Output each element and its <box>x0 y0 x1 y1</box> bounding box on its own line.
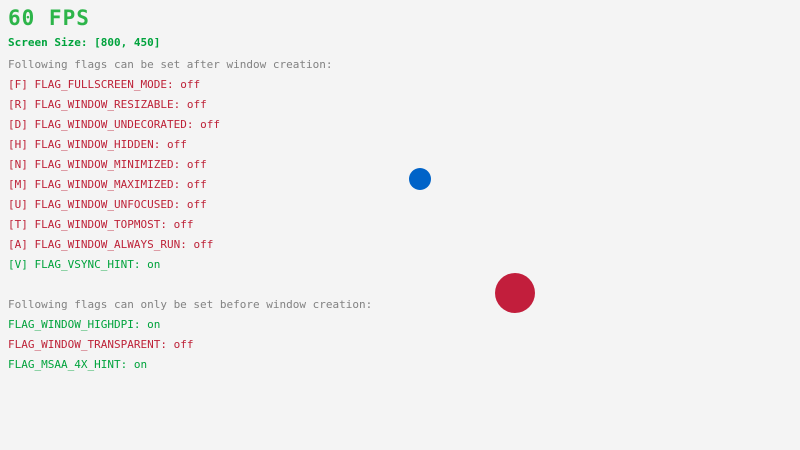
flag-shortcut-key: [N] <box>8 158 35 171</box>
bouncing-circle-blue <box>409 168 431 190</box>
flag-label: FLAG_WINDOW_MINIMIZED: <box>35 158 187 171</box>
runtime-flag-row[interactable]: [U] FLAG_WINDOW_UNFOCUSED: off <box>8 198 508 218</box>
flag-shortcut-key: [A] <box>8 238 35 251</box>
flag-state-value: off <box>174 338 194 351</box>
flag-shortcut-key: [V] <box>8 258 35 271</box>
raylib-window-flags-demo: 60 FPS Screen Size: [800, 450] Following… <box>0 0 800 450</box>
flag-label: FLAG_WINDOW_RESIZABLE: <box>35 98 187 111</box>
runtime-flag-row[interactable]: [N] FLAG_WINDOW_MINIMIZED: off <box>8 158 508 178</box>
flag-state-value: off <box>187 158 207 171</box>
flag-state-value: on <box>134 358 147 371</box>
runtime-flag-row[interactable]: [A] FLAG_WINDOW_ALWAYS_RUN: off <box>8 238 508 258</box>
runtime-flag-list: [F] FLAG_FULLSCREEN_MODE: off[R] FLAG_WI… <box>8 78 508 278</box>
creation-flags-header: Following flags can only be set before w… <box>8 298 372 311</box>
flag-state-value: off <box>193 238 213 251</box>
flag-state-value: off <box>187 98 207 111</box>
flag-label: FLAG_WINDOW_TOPMOST: <box>35 218 174 231</box>
runtime-flags-header: Following flags can be set after window … <box>8 58 333 71</box>
flag-state-value: off <box>187 178 207 191</box>
creation-flag-row[interactable]: FLAG_WINDOW_TRANSPARENT: off <box>8 338 508 358</box>
flag-state-value: on <box>147 258 160 271</box>
creation-flag-row[interactable]: FLAG_WINDOW_HIGHDPI: on <box>8 318 508 338</box>
flag-label: FLAG_WINDOW_ALWAYS_RUN: <box>35 238 194 251</box>
flag-shortcut-key: [M] <box>8 178 35 191</box>
flag-label: FLAG_VSYNC_HINT: <box>35 258 148 271</box>
flag-shortcut-key: [F] <box>8 78 35 91</box>
flag-label: FLAG_WINDOW_MAXIMIZED: <box>35 178 187 191</box>
flag-shortcut-key: [D] <box>8 118 35 131</box>
runtime-flag-row[interactable]: [M] FLAG_WINDOW_MAXIMIZED: off <box>8 178 508 198</box>
flag-state-value: off <box>187 198 207 211</box>
bouncing-circle-red <box>495 273 535 313</box>
flag-label: FLAG_WINDOW_HIGHDPI: <box>8 318 147 331</box>
flag-state-value: off <box>167 138 187 151</box>
creation-flag-list: FLAG_WINDOW_HIGHDPI: onFLAG_WINDOW_TRANS… <box>8 318 508 378</box>
runtime-flag-row[interactable]: [R] FLAG_WINDOW_RESIZABLE: off <box>8 98 508 118</box>
flag-state-value: on <box>147 318 160 331</box>
flag-label: FLAG_WINDOW_UNDECORATED: <box>35 118 201 131</box>
runtime-flag-row[interactable]: [V] FLAG_VSYNC_HINT: on <box>8 258 508 278</box>
flag-state-value: off <box>174 218 194 231</box>
flag-shortcut-key: [R] <box>8 98 35 111</box>
flag-state-value: off <box>180 78 200 91</box>
flag-state-value: off <box>200 118 220 131</box>
flag-label: FLAG_WINDOW_HIDDEN: <box>35 138 167 151</box>
screen-size-readout: Screen Size: [800, 450] <box>8 36 160 49</box>
flag-label: FLAG_WINDOW_TRANSPARENT: <box>8 338 174 351</box>
flag-shortcut-key: [U] <box>8 198 35 211</box>
flag-label: FLAG_FULLSCREEN_MODE: <box>35 78 181 91</box>
fps-counter: 60 FPS <box>8 6 90 30</box>
runtime-flag-row[interactable]: [H] FLAG_WINDOW_HIDDEN: off <box>8 138 508 158</box>
flag-shortcut-key: [H] <box>8 138 35 151</box>
flag-label: FLAG_MSAA_4X_HINT: <box>8 358 134 371</box>
runtime-flag-row[interactable]: [D] FLAG_WINDOW_UNDECORATED: off <box>8 118 508 138</box>
creation-flag-row[interactable]: FLAG_MSAA_4X_HINT: on <box>8 358 508 378</box>
flag-label: FLAG_WINDOW_UNFOCUSED: <box>35 198 187 211</box>
flag-shortcut-key: [T] <box>8 218 35 231</box>
runtime-flag-row[interactable]: [T] FLAG_WINDOW_TOPMOST: off <box>8 218 508 238</box>
runtime-flag-row[interactable]: [F] FLAG_FULLSCREEN_MODE: off <box>8 78 508 98</box>
